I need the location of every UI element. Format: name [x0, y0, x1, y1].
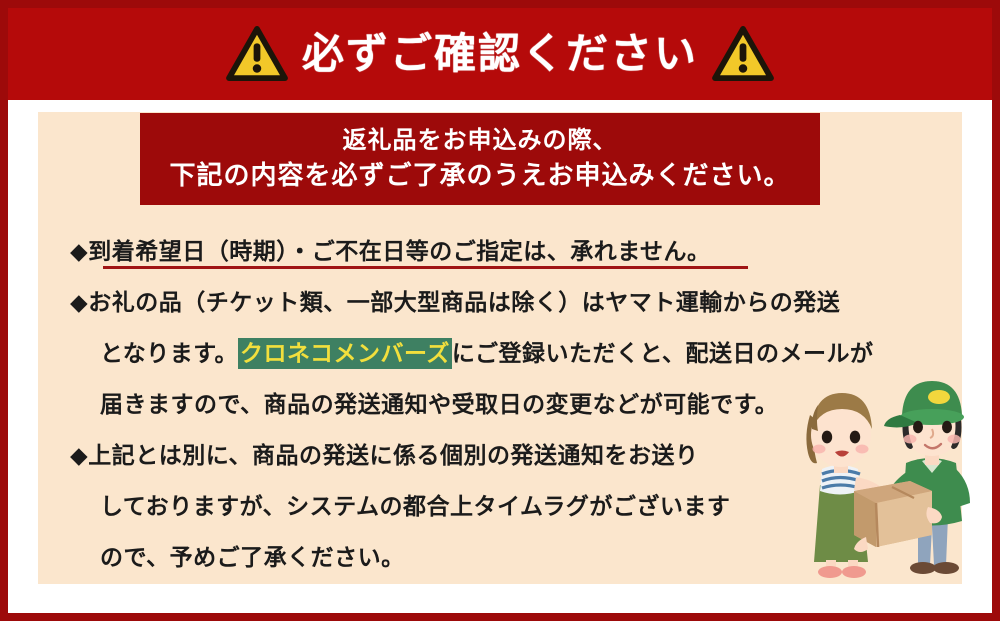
notice-line-2: ◆お礼の品（チケット類、一部大型商品は除く）はヤマト運輸からの発送	[70, 277, 950, 328]
warning-triangle-icon	[712, 26, 774, 82]
sub-banner: 返礼品をお申込みの際、 下記の内容を必ずご了承のうえお申込みください。	[140, 113, 820, 205]
kuroneko-members-highlight: クロネコメンバーズ	[238, 338, 452, 369]
customer-figure	[806, 393, 891, 578]
notice-banner-root: 必ずご確認ください 返礼品をお申込みの際、 下記の内容を必ずご了承のうえお申込み…	[0, 0, 1000, 621]
delivery-person-figure	[882, 381, 970, 574]
sub-banner-line-2: 下記の内容を必ずご了承のうえお申込みください。	[169, 159, 790, 192]
warning-triangle-icon	[226, 26, 288, 82]
notice-line-1: ◆到着希望日（時期）・ご不在日等のご指定は、承れません。	[70, 226, 950, 277]
sub-banner-line-1: 返礼品をお申込みの際、	[343, 126, 618, 156]
header-bar: 必ずご確認ください	[8, 8, 992, 100]
page-title: 必ずご確認ください	[302, 33, 698, 75]
notice-line-3-pre: となります。	[100, 340, 238, 366]
cap-logo-icon	[928, 390, 950, 404]
delivery-handoff-illustration	[782, 357, 992, 582]
